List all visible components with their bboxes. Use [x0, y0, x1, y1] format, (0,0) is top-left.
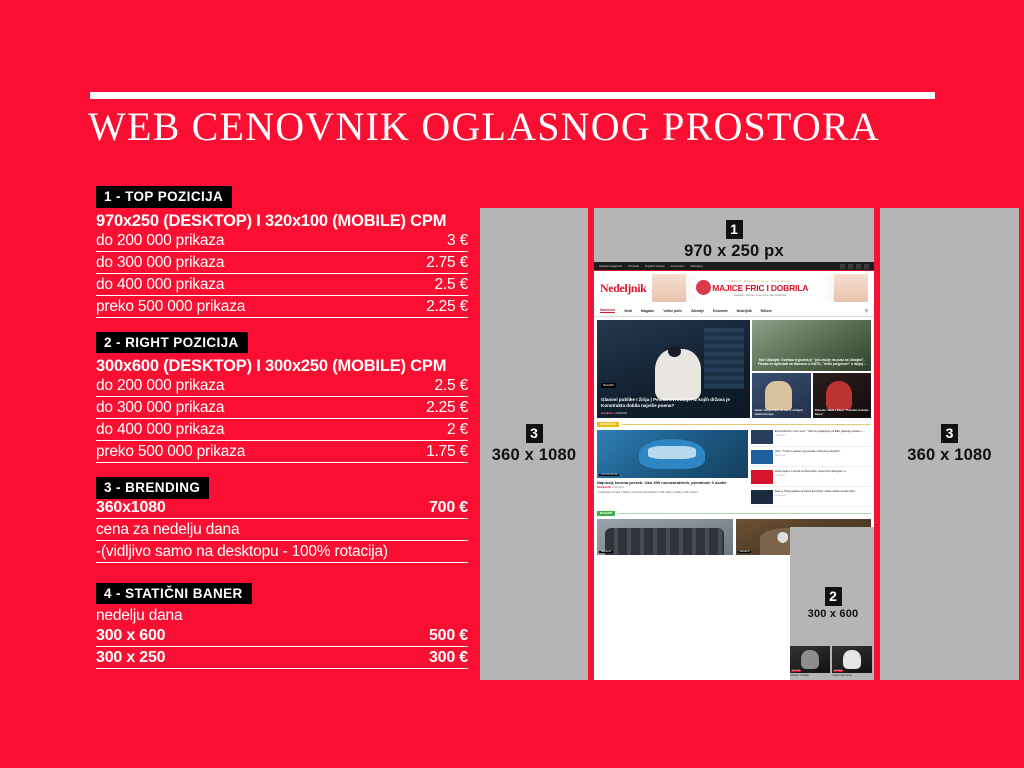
culture-section-header: MAGAZIN — [597, 511, 871, 516]
section-rule — [618, 513, 871, 514]
hero-side-cards: Vučan: Ovo je dobro za nas u srednjem se… — [752, 373, 871, 418]
leaderboard-headline: MAJICE FRIC I DOBRILA — [712, 283, 808, 293]
nstore-thumb-caption: Ubuduće Podrške — [790, 674, 830, 677]
news-mini-item[interactable]: Evrovizijski film Crne Gore: "Tražimo po… — [751, 430, 871, 447]
nstore-thumb-tag: NSTORE — [791, 670, 801, 672]
hero-title: Glasovi publike I žirija | Pesma Evroviz… — [601, 397, 746, 409]
news-mini-item[interactable]: Vreni: "Tražimo zabranu gej parada u Nar… — [751, 450, 871, 467]
hero-art-figure — [655, 349, 701, 400]
leaderboard-art-left — [652, 274, 686, 302]
price-row: preko 500 000 prikaza 2.25 € — [96, 298, 468, 318]
price-label: do 200 000 prikaza — [96, 232, 224, 250]
news-mini-body: Lažne dojave o bombi na Železničku, stan… — [775, 470, 848, 484]
topbar-item[interactable]: Marketing — [691, 264, 703, 268]
topbar-item[interactable]: Impressum — [671, 264, 685, 268]
price-row: do 200 000 prikaza 3 € — [96, 232, 468, 252]
price-note: -(vidljivo samo na desktopu - 100% rotac… — [96, 543, 468, 563]
twitter-icon[interactable] — [856, 264, 861, 269]
nstore-thumb-art — [801, 650, 819, 669]
instagram-icon[interactable] — [848, 264, 853, 269]
price-label: 360x1080 — [96, 499, 166, 517]
section-tag-1: 1 - TOP POZICIJA — [96, 186, 232, 208]
price-label: preko 500 000 prikaza — [96, 443, 245, 461]
title-divider — [90, 92, 935, 99]
culture-card-art — [605, 528, 724, 555]
website-mockup: Sedište/magazinai Pretplata Digitalni iz… — [594, 262, 874, 680]
news-mini-thumb — [751, 490, 773, 504]
price-value: 3 € — [447, 232, 468, 250]
news-feature-title: Najnoviji korona presek: Oko 200 novozar… — [597, 480, 748, 485]
news-mini-title: Kako je Srbija glasala na Pesmi Evrovizi… — [775, 490, 857, 494]
culture-card-tag: MAGAZIN — [599, 551, 613, 553]
nstore-thumb[interactable]: NSTORE Ubuduće Podrške — [790, 646, 830, 677]
nstore-thumb-caption: Tgvara nam nema — [832, 674, 872, 677]
branding-panel-left: 3 360 x 1080 — [480, 208, 588, 680]
news-mini-body: Evrovizijski film Crne Gore: "Tražimo po… — [775, 430, 865, 444]
nstore-thumb-art — [843, 650, 861, 669]
price-row: 300 x 600 500 € — [96, 627, 468, 647]
news-section-header: VESTI DANA — [597, 422, 871, 427]
hero-side-title: Karl Ulbrajht: Svetska trgovina je "još … — [755, 358, 868, 367]
news-feature-author: Nedeljnik.Rs — [597, 486, 611, 489]
position-badge-3-left: 3 — [526, 424, 543, 443]
price-label: do 400 000 prikaza — [96, 421, 224, 439]
nstore-thumb-image: NSTORE — [832, 646, 872, 673]
site-utility-bar: Sedište/magazinai Pretplata Digitalni iz… — [594, 262, 874, 271]
nav-item-vesti[interactable]: Vesti — [624, 309, 632, 313]
hero-section: MAGAZIN Glasovi publike I žirija | Pesma… — [597, 320, 871, 418]
news-mini-date: 15/05/2022 — [775, 475, 848, 477]
price-value: 2.25 € — [426, 298, 468, 316]
section-chip-vesti: VESTI DANA — [597, 422, 619, 427]
nstore-thumb-image: NSTORE — [790, 646, 830, 673]
news-left-column: VESTI DANA VESTI/KORONA — [597, 422, 871, 507]
price-label: do 400 000 prikaza — [96, 276, 224, 294]
news-mini-item[interactable]: Kako je Srbija glasala na Pesmi Evrovizi… — [751, 490, 871, 507]
section-subhead-2: 300x600 (DESKTOP) I 300x250 (MOBILE) CPM — [96, 357, 468, 376]
news-mini-date: 15/05/2022 — [775, 455, 841, 457]
news-mini-title: Evrovizijski film Crne Gore: "Tražimo po… — [775, 430, 865, 434]
news-mini-list: Evrovizijski film Crne Gore: "Tražimo po… — [751, 430, 871, 507]
price-label: 300 x 600 — [96, 627, 165, 645]
website-preview-panel: 1 970 x 250 px Sedište/magazinai Pretpla… — [592, 208, 876, 680]
hero-card[interactable]: Dokovitz: Vlada u Rimu: "Podvlast za Rol… — [813, 373, 871, 418]
price-row: do 200 000 prikaza 2.5 € — [96, 377, 468, 397]
price-value: 1.75 € — [426, 443, 468, 461]
section-chip-magazin: MAGAZIN — [597, 511, 615, 516]
culture-card-tag: MAGAZIN — [738, 551, 752, 553]
position-badge-3-right: 3 — [941, 424, 958, 443]
topbar-item[interactable]: Sedište/magazinai — [599, 264, 622, 268]
price-label: 300 x 250 — [96, 649, 165, 667]
hero-card-title: Vučan: Ovo je dobro za nas u srednjem se… — [754, 409, 808, 416]
nav-item-magazin[interactable]: Magazin — [641, 309, 654, 313]
hero-card-title: Dokovitz: Vlada u Rimu: "Podvlast za Rol… — [815, 409, 869, 416]
hero-kicker: MAGAZIN — [601, 383, 616, 388]
social-icons — [840, 264, 869, 269]
section-tag-2: 2 - RIGHT POZICIJA — [96, 332, 248, 354]
price-row: do 300 000 prikaza 2.25 € — [96, 399, 468, 419]
price-row: do 300 000 prikaza 2.75 € — [96, 254, 468, 274]
price-row: 360x1080 700 € — [96, 499, 468, 519]
top-banner-slot: 1 970 x 250 px — [594, 208, 874, 261]
news-mini-date: 15/05/2022 — [775, 435, 865, 437]
hero-card-art — [765, 381, 792, 410]
site-content: MAGAZIN Glasovi publike I žirija | Pesma… — [594, 317, 874, 558]
price-value: 500 € — [429, 627, 468, 645]
price-label: preko 500 000 prikaza — [96, 298, 245, 316]
news-mini-body: Vreni: "Tražimo zabranu gej parada u Nar… — [775, 450, 841, 464]
news-feature-body: U poslednjem 24 sata u Srbiji je na koro… — [597, 491, 748, 495]
news-mini-thumb — [751, 430, 773, 444]
news-mini-thumb — [751, 470, 773, 484]
news-image-tag: VESTI/KORONA — [599, 474, 619, 476]
dimension-label-left: 360 x 1080 — [492, 446, 577, 465]
site-logo[interactable]: Nedeljnik — [600, 281, 646, 296]
section-subhead-1: 970x250 (DESKTOP) I 320x100 (MOBILE) CPM — [96, 212, 468, 231]
price-value: 2.5 € — [435, 377, 468, 395]
nav-item-naslovna[interactable]: Naslovna — [600, 308, 615, 313]
news-mini-title: Lažne dojave o bombi na Železničku, stan… — [775, 470, 848, 474]
culture-card[interactable]: MAGAZIN — [597, 519, 733, 555]
branding-panel-right: 3 360 x 1080 — [880, 208, 1019, 680]
hero-main-article[interactable]: MAGAZIN Glasovi publike I žirija | Pesma… — [597, 320, 750, 418]
news-mini-title: Vreni: "Tražimo zabranu gej parada u Nar… — [775, 450, 841, 454]
news-mini-date: 15/05/2022 — [775, 495, 857, 497]
price-row: 300 x 250 300 € — [96, 649, 468, 669]
section-tag-3: 3 - BRENDING — [96, 477, 209, 499]
site-navigation: Naslovna Vesti Magazin Velike priče Zdra… — [594, 305, 874, 317]
price-value: 2.75 € — [426, 254, 468, 272]
topbar-item[interactable]: Pretplata — [628, 264, 639, 268]
dimension-label-right-rail: 300 x 600 — [808, 608, 859, 620]
hero-author: Nedeljnik.rs — [601, 412, 615, 415]
news-mini-body: Kako je Srbija glasala na Pesmi Evrovizi… — [775, 490, 857, 504]
nav-item-nstore[interactable]: NStore — [761, 309, 772, 313]
nav-item-velike-price[interactable]: Velike priče — [663, 309, 682, 313]
slide-root: WEB CENOVNIK OGLASNOG PROSTORA 1 - TOP P… — [0, 0, 1024, 768]
hero-side-article[interactable]: Karl Ulbrajht: Svetska trgovina je "još … — [752, 320, 871, 371]
price-value: 2.5 € — [435, 276, 468, 294]
hero-art-stripe — [704, 328, 744, 389]
news-feature[interactable]: VESTI/KORONA Najnoviji korona presek: Ok… — [597, 430, 748, 507]
price-label: do 300 000 prikaza — [96, 254, 224, 272]
position-badge-2: 2 — [825, 587, 842, 606]
dimension-label-top-banner: 970 x 250 px — [594, 242, 874, 261]
news-feature-meta: Nedeljnik.Rs 15/05/2022 — [597, 486, 748, 489]
section-note-4: nedelju dana — [96, 607, 468, 625]
leaderboard-subline: Nedeljnik - naručite online preko naše p… — [734, 294, 786, 297]
news-mini-item[interactable]: Lažne dojave o bombi na Železničku, stan… — [751, 470, 871, 487]
hero-card[interactable]: Vučan: Ovo je dobro za nas u srednjem se… — [752, 373, 810, 418]
position-badge-1: 1 — [726, 220, 743, 239]
hero-card-art — [826, 381, 853, 410]
dimension-label-right: 360 x 1080 — [907, 446, 992, 465]
nstore-thumbs: NSTORE Ubuduće Podrške NSTORE Tgvara nam… — [790, 646, 872, 677]
nav-item-nedeljnik[interactable]: Nedeljnik — [737, 309, 752, 313]
news-grid: VESTI/KORONA Najnoviji korona presek: Ok… — [597, 430, 871, 507]
leaderboard-art-right — [834, 274, 868, 302]
section-rule — [622, 424, 871, 425]
nav-item-kolumne[interactable]: Kolumne — [713, 309, 728, 313]
hero-date: 15/05/2022 — [615, 412, 627, 415]
price-value: 2 € — [447, 421, 468, 439]
leaderboard-ad[interactable]: Obuci ih. Smejali su im se. Svi ih dira … — [652, 274, 868, 302]
facebook-icon[interactable] — [840, 264, 845, 269]
price-section-2: 2 - RIGHT POZICIJA 300x600 (DESKTOP) I 3… — [96, 332, 468, 464]
price-section-1: 1 - TOP POZICIJA 970x250 (DESKTOP) I 320… — [96, 186, 468, 318]
news-section: VESTI DANA VESTI/KORONA — [597, 422, 871, 507]
youtube-icon[interactable] — [864, 264, 869, 269]
hero-side-column: Karl Ulbrajht: Svetska trgovina je "još … — [752, 320, 871, 418]
price-value: 2.25 € — [426, 399, 468, 417]
section-tag-4: 4 - STATIČNI BANER — [96, 583, 252, 605]
price-label: do 200 000 prikaza — [96, 377, 224, 395]
price-row: preko 500 000 prikaza 1.75 € — [96, 443, 468, 463]
nstore-thumb-tag: NSTORE — [833, 670, 843, 672]
leaderboard-topline: Obuci ih. Smejali su im se. Svi ih dira … — [729, 279, 791, 283]
page-title: WEB CENOVNIK OGLASNOG PROSTORA — [88, 103, 968, 150]
topbar-item[interactable]: Digitalni izdanje — [645, 264, 665, 268]
news-feature-image: VESTI/KORONA — [597, 430, 748, 478]
hero-meta: Nedeljnik.rs 15/05/2022 — [601, 412, 627, 415]
pricing-column: 1 - TOP POZICIJA 970x250 (DESKTOP) I 320… — [96, 186, 468, 671]
site-brand-row: Nedeljnik Obuci ih. Smejali su im se. Sv… — [594, 271, 874, 305]
price-row: do 400 000 prikaza 2 € — [96, 421, 468, 441]
price-value: 300 € — [429, 649, 468, 667]
price-section-3: 3 - BRENDING 360x1080 700 € cena za nede… — [96, 477, 468, 563]
price-label: do 300 000 prikaza — [96, 399, 224, 417]
price-value: 700 € — [429, 499, 468, 517]
nav-item-zdravlje[interactable]: Zdravlje — [691, 309, 704, 313]
price-section-4: 4 - STATIČNI BANER nedelju dana 300 x 60… — [96, 583, 468, 670]
ad-layout-diagram: 3 360 x 1080 3 360 x 1080 1 970 x 250 px… — [480, 208, 1019, 680]
price-row: do 400 000 prikaza 2.5 € — [96, 276, 468, 296]
price-note: cena za nedelju dana — [96, 521, 468, 541]
nstore-thumb[interactable]: NSTORE Tgvara nam nema — [832, 646, 872, 677]
news-feature-date: 15/05/2022 — [612, 486, 624, 489]
search-icon[interactable]: ⚲ — [865, 308, 868, 313]
news-art-visor — [648, 446, 696, 458]
leaderboard-logo-icon — [696, 280, 711, 295]
news-mini-thumb — [751, 450, 773, 464]
